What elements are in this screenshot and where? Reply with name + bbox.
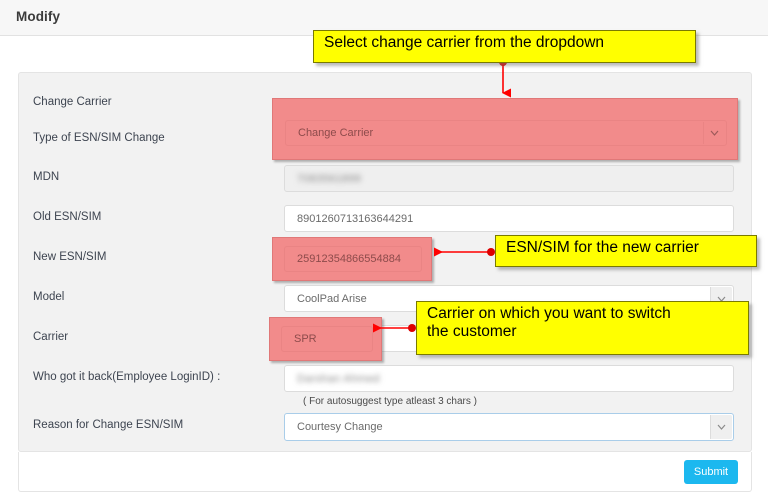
label-new-esn-sim: New ESN/SIM — [33, 251, 107, 263]
input-carrier[interactable]: SPR — [281, 326, 373, 352]
input-who-got-it-back-value: Darshan Ahmed — [297, 373, 380, 385]
callout-carrier-switch: Carrier on which you want to switch the … — [416, 301, 749, 355]
submit-button[interactable]: Submit — [684, 460, 738, 484]
input-old-esn-sim[interactable]: 8901260713163644291 — [284, 205, 734, 232]
label-type-of-esn-sim-change: Type of ESN/SIM Change — [33, 132, 165, 144]
form-footer — [18, 452, 752, 492]
select-model-value: CoolPad Arise — [297, 293, 367, 305]
callout-select-change-carrier: Select change carrier from the dropdown — [313, 30, 696, 63]
select-reason-for-change-value: Courtesy Change — [297, 421, 383, 433]
highlight-box-type-of-change: Change Carrier — [272, 98, 738, 160]
label-who-got-it-back: Who got it back(Employee LoginID) : — [33, 371, 220, 383]
input-new-esn-sim[interactable]: 25912354866554884 — [284, 246, 422, 272]
label-old-esn-sim: Old ESN/SIM — [33, 211, 101, 223]
input-old-esn-sim-value: 8901260713163644291 — [297, 213, 413, 225]
chevron-down-icon[interactable] — [710, 415, 732, 439]
label-change-carrier: Change Carrier — [33, 96, 112, 108]
select-reason-for-change[interactable]: Courtesy Change — [284, 413, 734, 441]
chevron-down-icon[interactable] — [703, 122, 725, 144]
label-model: Model — [33, 291, 64, 303]
input-carrier-value: SPR — [294, 333, 317, 345]
page-title: Modify — [16, 9, 60, 24]
modify-form-screen: Modify Change Carrier Type of ESN/SIM Ch… — [0, 0, 768, 499]
input-new-esn-sim-value: 25912354866554884 — [297, 253, 401, 265]
autosuggest-hint: ( For autosuggest type atleast 3 chars ) — [303, 396, 477, 407]
input-mdn[interactable]: 7083561899 — [284, 165, 734, 192]
input-who-got-it-back[interactable]: Darshan Ahmed — [284, 365, 734, 392]
highlight-box-carrier: SPR — [269, 317, 382, 361]
label-reason-for-change: Reason for Change ESN/SIM — [33, 419, 183, 431]
label-carrier: Carrier — [33, 331, 68, 343]
label-mdn: MDN — [33, 171, 59, 183]
select-type-of-esn-sim-change[interactable]: Change Carrier — [285, 120, 727, 146]
callout-esn-sim-new-carrier: ESN/SIM for the new carrier — [495, 235, 757, 267]
input-mdn-value: 7083561899 — [297, 173, 361, 185]
highlight-box-new-esn-sim: 25912354866554884 — [272, 237, 432, 281]
select-type-of-esn-sim-change-value: Change Carrier — [298, 127, 373, 139]
